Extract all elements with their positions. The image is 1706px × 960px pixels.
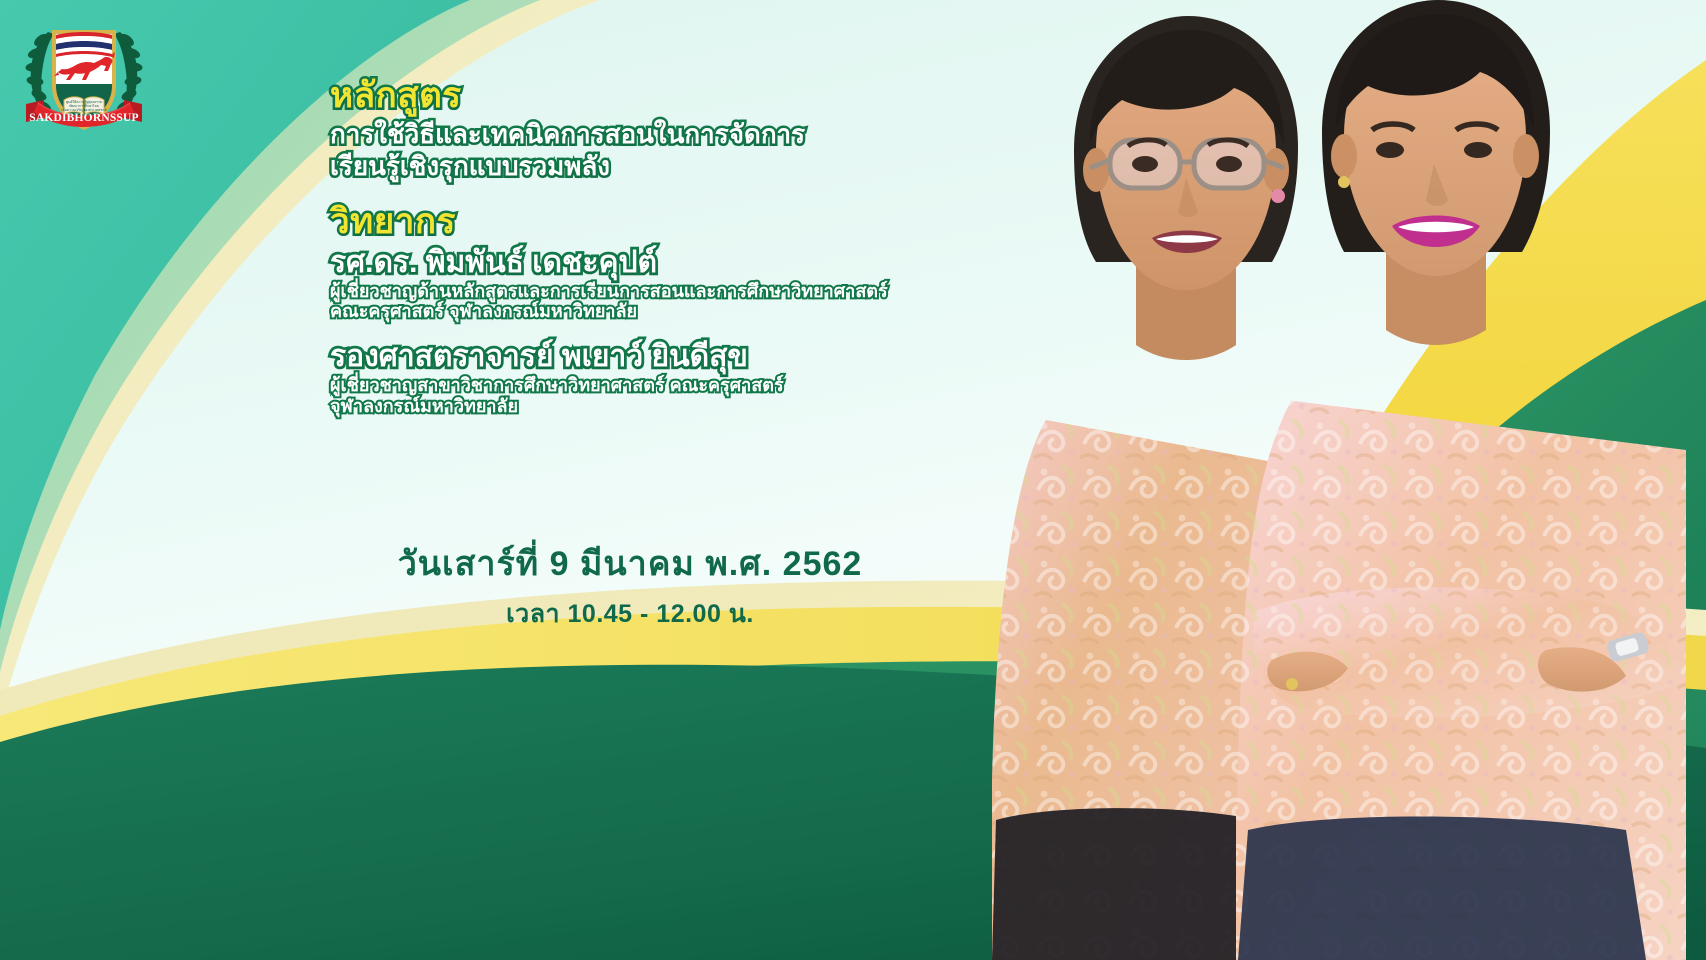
event-time: เวลา 10.45 - 12.00 น. — [330, 594, 930, 634]
speaker-right-figure — [1236, 0, 1690, 960]
speaker-2-credential-2: จุฬาลงกรณ์มหาวิทยาลัย — [330, 397, 930, 416]
school-logo: ศูนย์ให้ความรู้คู่คุณธรรม พัฒนาการศึกษาไ… — [14, 8, 154, 140]
earring-left — [1271, 189, 1285, 203]
school-crest-icon: ศูนย์ให้ความรู้คู่คุณธรรม พัฒนาการศึกษาไ… — [14, 8, 154, 140]
trousers-right — [1238, 817, 1646, 960]
speaker-2-credential-1: ผู้เชี่ยวชาญสาขาวิชาการศึกษาวิทยาศาสตร์ … — [330, 376, 930, 395]
event-datetime-block: วันเสาร์ที่ 9 มีนาคม พ.ศ. 2562 เวลา 10.4… — [330, 536, 930, 634]
ring-icon — [1286, 678, 1298, 690]
speaker-1-credential-2: คณะครุศาสตร์ จุฬาลงกรณ์มหาวิทยาลัย — [330, 302, 930, 321]
speaker-heading: วิทยากร — [330, 204, 930, 241]
speaker-2: รองศาสตราจารย์ พเยาว์ ยินดีสุข ผู้เชี่ยว… — [330, 341, 930, 415]
two-speakers-photo — [986, 0, 1706, 960]
speaker-1-name: รศ.ดร. พิมพันธ์ เดชะคุปต์ — [330, 247, 930, 279]
speaker-2-name: รองศาสตราจารย์ พเยาว์ ยินดีสุข — [330, 341, 930, 373]
poster-canvas: ศูนย์ให้ความรู้คู่คุณธรรม พัฒนาการศึกษาไ… — [0, 0, 1706, 960]
course-title-line-2: เรียนรู้เชิงรุกแบบรวมพลัง — [330, 153, 930, 180]
course-heading: หลักสูตร — [330, 78, 930, 115]
trousers-left — [992, 808, 1236, 960]
speaker-1: รศ.ดร. พิมพันธ์ เดชะคุปต์ ผู้เชี่ยวชาญด้… — [330, 247, 930, 321]
speaker-spacer — [330, 323, 930, 337]
logo-ribbon-text: SAKDIBHORNSSUP — [29, 112, 139, 124]
thai-flag-band-icon — [56, 32, 112, 57]
speakers-illustration — [986, 0, 1706, 960]
speaker-1-credential-1: ผู้เชี่ยวชาญด้านหลักสูตรและการเรียนการสอ… — [330, 282, 930, 301]
poster-text-block: หลักสูตร การใช้วิธีและเทคนิคการสอนในการจ… — [330, 78, 930, 418]
course-title-line-1: การใช้วิธีและเทคนิคการสอนในการจัดการ — [330, 121, 930, 148]
event-date: วันเสาร์ที่ 9 มีนาคม พ.ศ. 2562 — [330, 536, 930, 590]
earring-right — [1338, 176, 1350, 188]
